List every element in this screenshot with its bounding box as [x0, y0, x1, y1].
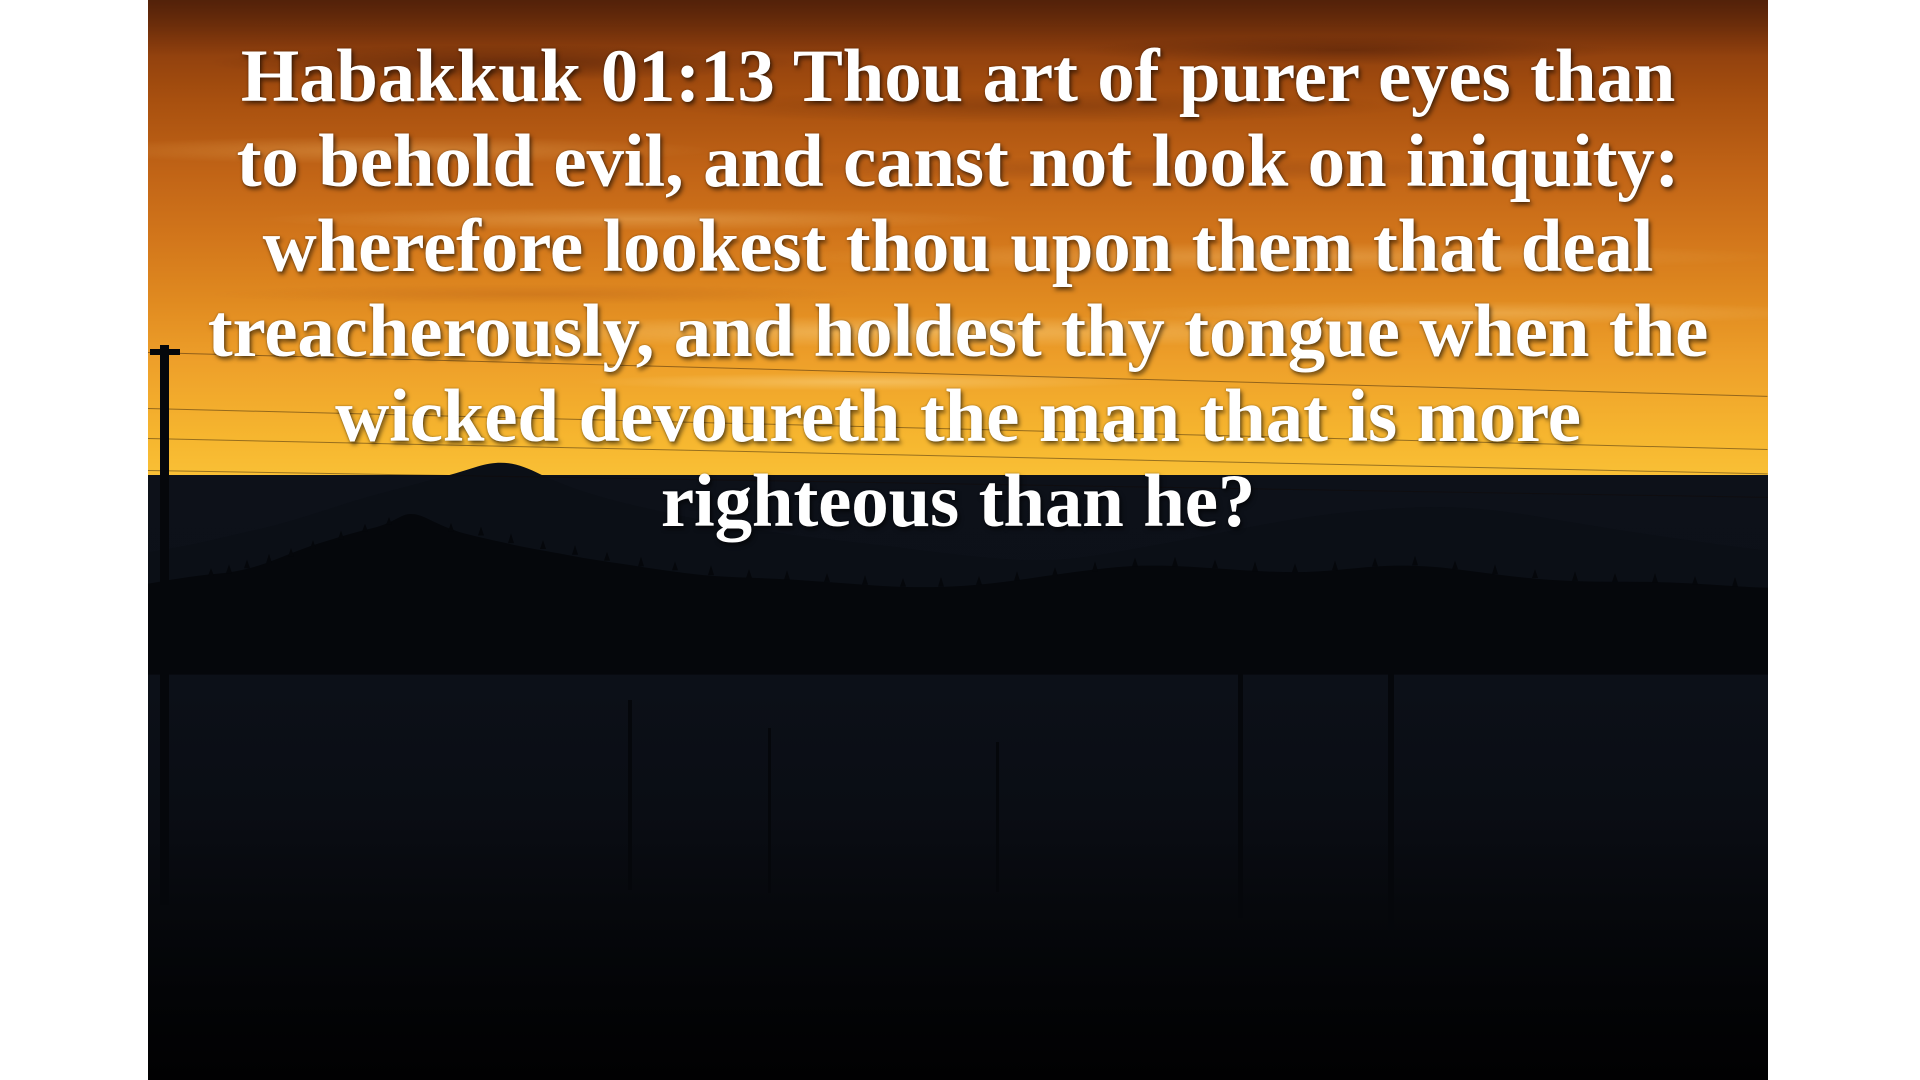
fence-post [996, 742, 999, 892]
slide-canvas: Habakkuk 01:13 Thou art of purer eyes th… [0, 0, 1920, 1080]
verse-text: Habakkuk 01:13 Thou art of purer eyes th… [148, 0, 1768, 544]
utility-pole-right [1388, 612, 1394, 930]
fence-post [628, 700, 632, 890]
fence-post [768, 728, 771, 893]
utility-pole-right [1238, 598, 1243, 918]
